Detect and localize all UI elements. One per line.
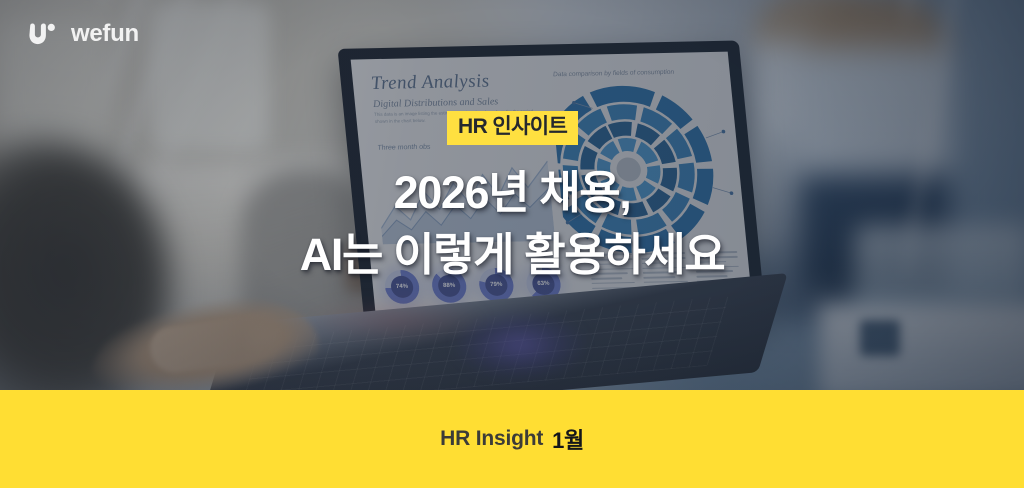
footer-label: HR Insight — [440, 427, 543, 451]
brand-name: wefun — [71, 22, 139, 46]
wefun-w-mark-icon — [28, 23, 62, 45]
footer-bar: HR Insight 1월 — [0, 390, 1024, 488]
headline-line-1: 2026년 채용, — [0, 162, 1024, 224]
headline-line-2: AI는 이렇게 활용하세요 — [0, 224, 1024, 286]
hero-headline: 2026년 채용, AI는 이렇게 활용하세요 — [0, 162, 1024, 286]
footer-month: 1월 — [552, 423, 584, 455]
category-badge: HR 인사이트 — [447, 111, 578, 145]
hr-insight-banner: Trend Analysis Digital Distributions and… — [0, 0, 1024, 488]
brand-logo[interactable]: wefun — [28, 22, 139, 46]
category-badge-label: HR 인사이트 — [458, 115, 567, 138]
